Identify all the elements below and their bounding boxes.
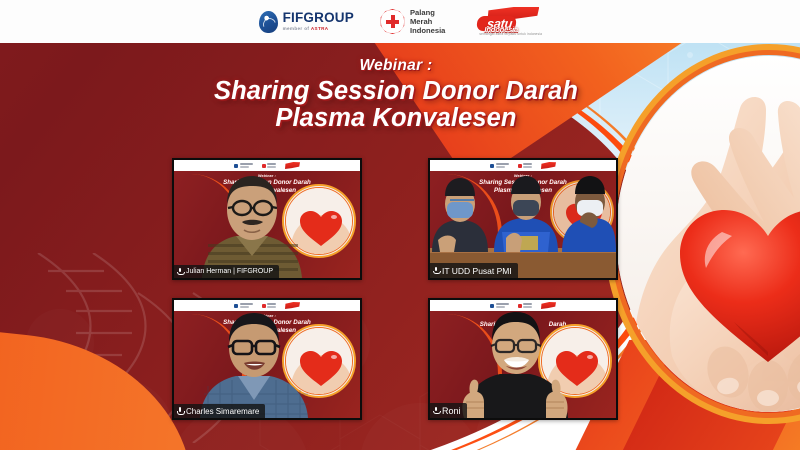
tile-participant-video <box>430 300 616 418</box>
satu-indonesia-logo: satu Indonesia semangat astra terpadu un… <box>471 7 541 37</box>
tile-name-badge: Charles Simaremare <box>174 404 265 418</box>
tile-participant-video <box>174 160 360 278</box>
microphone-icon <box>433 267 439 275</box>
hands-holding-heart-photo <box>616 56 800 412</box>
fifgroup-wordmark: FIFGROUP <box>283 11 354 25</box>
microphone-icon <box>177 407 183 415</box>
hero-circle <box>604 44 800 424</box>
participant-name: Charles Simaremare <box>186 407 259 416</box>
participant-name: Julian Herman | FIFGROUP <box>186 268 273 275</box>
tile-participant-video <box>430 160 616 278</box>
fifgroup-mark-icon <box>259 11 278 33</box>
headline-kicker: Webinar : <box>186 57 606 75</box>
tile-name-badge: Julian Herman | FIFGROUP <box>174 265 279 278</box>
red-cross-icon <box>380 9 405 34</box>
video-tile-roni[interactable]: SharingDarah <box>428 298 618 420</box>
tile-participant-video <box>174 300 360 418</box>
tile-name-badge: IT UDD Pusat PMI <box>430 263 518 278</box>
pmi-wordmark: Palang Merah Indonesia <box>410 8 445 36</box>
pmi-logo: Palang Merah Indonesia <box>380 8 445 36</box>
screenshot-stage: Webinar : Sharing Session Donor Darah Pl… <box>0 0 800 450</box>
headline-line-2: Plasma Konvalesen <box>186 105 606 132</box>
fifgroup-tagline: member of ASTRA <box>283 27 354 32</box>
satu-tagline: semangat astra terpadu untuk indonesia <box>479 32 542 36</box>
video-tile-it-udd-pusat-pmi[interactable]: Webinar : Sharing Session Donor Darah Pl… <box>428 158 618 280</box>
video-tile-charles-simaremare[interactable]: Webinar : Sharing Session Donor Darah Pl… <box>172 298 362 420</box>
microphone-icon <box>177 268 183 276</box>
fifgroup-logo: FIFGROUP member of ASTRA <box>259 11 354 33</box>
tile-name-badge: Roni <box>430 403 467 418</box>
participant-name: IT UDD Pusat PMI <box>442 266 512 276</box>
headline-line-1: Sharing Session Donor Darah <box>186 78 606 105</box>
participant-name: Roni <box>442 406 461 416</box>
logo-header-bar: FIFGROUP member of ASTRA Palang Merah In… <box>0 0 800 43</box>
video-tile-julian-herman[interactable]: Webinar : Sharing Session Donor Darah Pl… <box>172 158 362 280</box>
headline-block: Webinar : Sharing Session Donor Darah Pl… <box>186 57 606 132</box>
microphone-icon <box>433 407 439 415</box>
